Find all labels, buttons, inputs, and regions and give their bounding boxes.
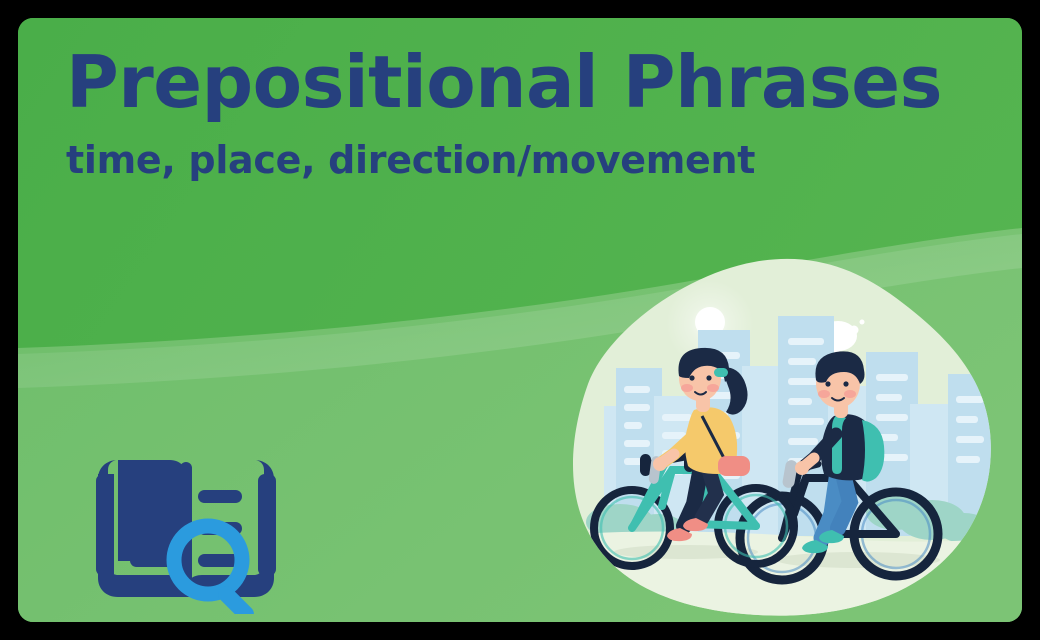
page-subtitle: time, place, direction/movement: [66, 140, 966, 182]
two-cyclists-in-city-illustration: [566, 256, 1006, 622]
lesson-card: Prepositional Phrases time, place, direc…: [18, 18, 1022, 622]
screenshot-root: Prepositional Phrases time, place, direc…: [0, 0, 1040, 640]
open-book-with-magnifier-icon: [96, 442, 276, 614]
book-line: [130, 490, 174, 503]
page-title: Prepositional Phrases: [66, 44, 966, 122]
heading-block: Prepositional Phrases time, place, direc…: [66, 44, 966, 182]
book-line: [130, 522, 174, 535]
hair-tie: [714, 368, 728, 377]
book-line: [198, 490, 242, 503]
